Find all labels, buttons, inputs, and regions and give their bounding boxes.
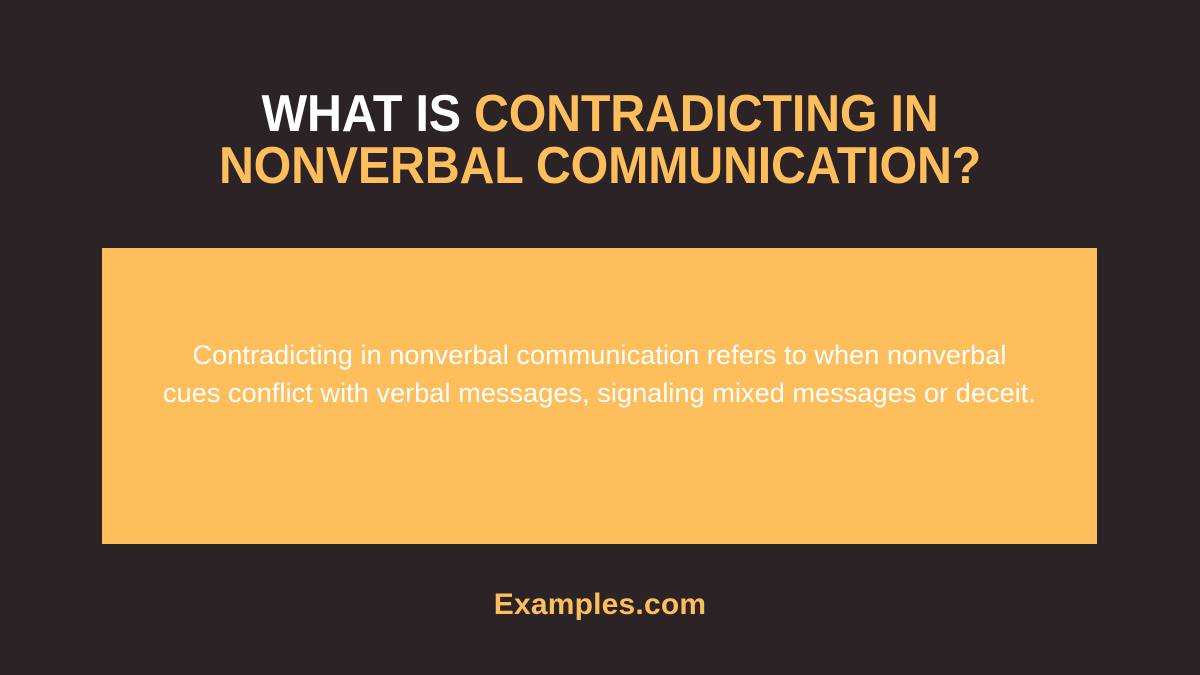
definition-text-block: Contradicting in nonverbal communication…: [162, 336, 1037, 412]
definition-card: Contradicting in nonverbal communication…: [102, 248, 1097, 544]
title-line-1: WHAT IS CONTRADICTING IN: [42, 88, 1158, 140]
slide-canvas: WHAT IS CONTRADICTING IN NONVERBAL COMMU…: [0, 0, 1200, 675]
title-line-1-accent: CONTRADICTING IN: [474, 85, 938, 143]
title-line-1-white: WHAT IS: [261, 85, 474, 143]
footer: Examples.com: [0, 588, 1200, 622]
brand-wordmark: Examples.com: [494, 588, 707, 621]
definition-text: Contradicting in nonverbal communication…: [162, 336, 1037, 412]
title-line-2: NONVERBAL COMMUNICATION?: [42, 140, 1158, 192]
page-title: WHAT IS CONTRADICTING IN NONVERBAL COMMU…: [0, 88, 1200, 192]
